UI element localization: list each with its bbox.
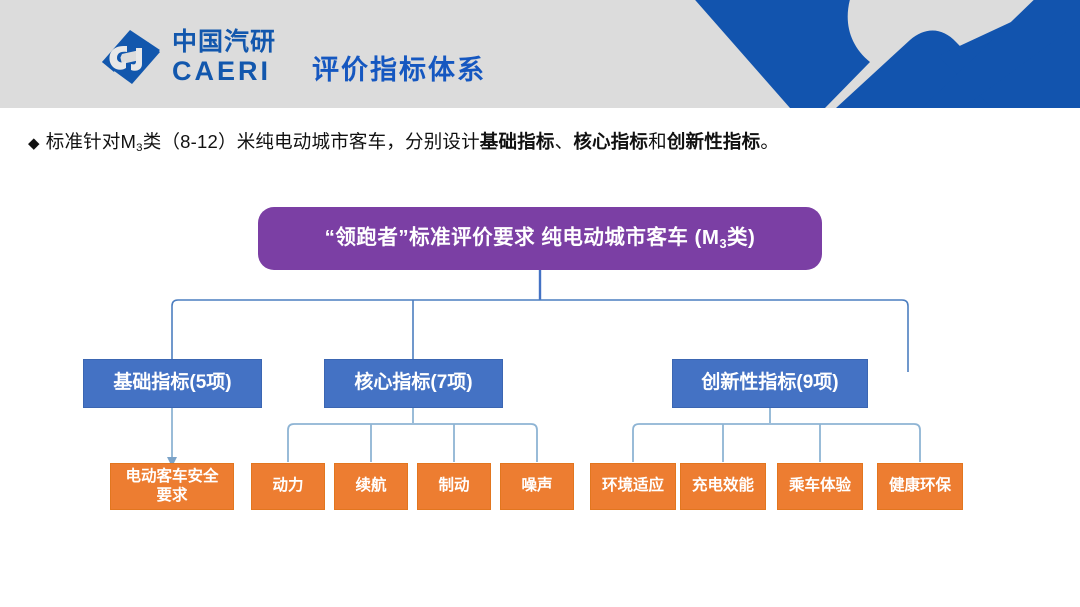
tree-leaf-label-range: 续航 <box>355 477 386 495</box>
logo-english-name: CAERI <box>172 58 276 85</box>
tree-leaf-label-noise: 噪声 <box>521 477 552 495</box>
tree-branch-label-innovation: 创新性指标(9项) <box>701 372 838 394</box>
bullet-seg-3-bold: 基础指标 <box>480 131 555 152</box>
page-title: 评价指标体系 <box>312 48 486 87</box>
tree-root-label: “领跑者”标准评价要求 纯电动城市客车 (M3类) <box>325 226 756 250</box>
tree-root-node[interactable]: “领跑者”标准评价要求 纯电动城市客车 (M3类) <box>258 207 822 270</box>
tree-leaf-label-charging: 充电效能 <box>692 477 754 495</box>
tree-leaf-node-charging[interactable]: 充电效能 <box>680 463 766 510</box>
tree-leaf-label-safety-line2: 要求 <box>156 487 187 504</box>
tree-leaf-label-ride-experience: 乘车体验 <box>789 477 851 495</box>
tree-root-label-prefix: “领跑者”标准评价要求 纯电动城市客车 (M <box>325 226 720 249</box>
bullet-seg-7-bold: 创新性指标 <box>667 131 761 152</box>
tree-leaf-label-environment: 环境适应 <box>602 477 664 495</box>
bullet-seg-2: 类（8-12）米纯电动城市客车，分别设计 <box>143 131 480 152</box>
tree-root-label-suffix: 类) <box>727 226 755 249</box>
bullet-seg-1-subscript: 3 <box>136 142 143 154</box>
tree-leaf-node-health-environment[interactable]: 健康环保 <box>877 463 963 510</box>
bullet-seg-6: 和 <box>648 131 667 152</box>
tree-leaf-node-environment[interactable]: 环境适应 <box>590 463 676 510</box>
logo-chinese-name: 中国汽研 <box>172 30 276 55</box>
indicator-system-tree-diagram: “领跑者”标准评价要求 纯电动城市客车 (M3类) 基础指标(5项) 核心指标(… <box>0 180 1080 540</box>
connector-core-bus <box>288 424 537 462</box>
bullet-seg-8: 。 <box>760 131 779 152</box>
header-decoration-shape <box>620 0 1080 108</box>
bullet-marker-icon: ◆ <box>28 135 40 152</box>
slide-header: 中国汽研 CAERI 评价指标体系 <box>0 0 1080 108</box>
brand-logo: 中国汽研 CAERI <box>100 28 276 86</box>
tree-leaf-label-power: 动力 <box>272 477 303 495</box>
tree-branch-node-basic[interactable]: 基础指标(5项) <box>83 359 262 408</box>
tree-leaf-node-noise[interactable]: 噪声 <box>500 463 574 510</box>
bullet-seg-5-bold: 核心指标 <box>573 131 648 152</box>
connector-innovation-bus <box>633 424 920 462</box>
caeri-logo-icon <box>100 28 162 86</box>
tree-branch-label-core: 核心指标(7项) <box>354 372 472 394</box>
tree-leaf-label-braking: 制动 <box>438 477 469 495</box>
tree-branch-node-core[interactable]: 核心指标(7项) <box>324 359 503 408</box>
tree-leaf-node-ride-experience[interactable]: 乘车体验 <box>777 463 863 510</box>
tree-root-label-sub: 3 <box>719 236 727 251</box>
tree-leaf-label-health-environment: 健康环保 <box>889 477 951 495</box>
tree-leaf-label-safety: 电动客车安全 要求 <box>125 468 218 505</box>
body-bullet-text: ◆标准针对M3类（8-12）米纯电动城市客车，分别设计基础指标、核心指标和创新性… <box>28 128 779 154</box>
bullet-seg-0: 标准针对M <box>46 131 136 152</box>
tree-leaf-node-power[interactable]: 动力 <box>251 463 325 510</box>
tree-leaf-label-safety-line1: 电动客车安全 <box>125 468 218 485</box>
tree-leaf-node-safety[interactable]: 电动客车安全 要求 <box>110 463 234 510</box>
tree-branch-node-innovation[interactable]: 创新性指标(9项) <box>672 359 868 408</box>
bullet-seg-4: 、 <box>555 131 574 152</box>
slide-canvas: 中国汽研 CAERI 评价指标体系 ◆标准针对M3类（8-12）米纯电动城市客车… <box>0 0 1080 607</box>
tree-branch-label-basic: 基础指标(5项) <box>113 372 231 394</box>
tree-leaf-node-range[interactable]: 续航 <box>334 463 408 510</box>
tree-leaf-node-braking[interactable]: 制动 <box>417 463 491 510</box>
